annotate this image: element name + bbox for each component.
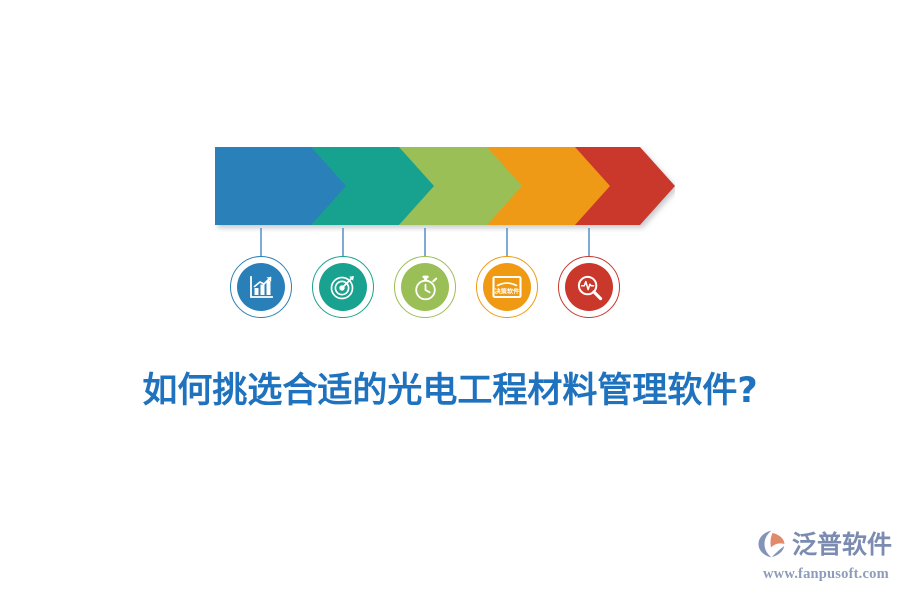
brand-name: 泛普软件 xyxy=(792,532,892,557)
fanpu-logo-mark-icon xyxy=(757,529,789,559)
brand-logo[interactable]: 泛普软件 www.fanpusoft.com xyxy=(757,529,893,585)
target-dartboard-icon xyxy=(329,273,357,301)
stopwatch-icon xyxy=(412,274,439,301)
decision-software-screen-icon: 决策软件 xyxy=(492,274,522,300)
brand-row: 泛普软件 xyxy=(757,529,892,559)
page-title: 如何挑选合适的光电工程材料管理软件? xyxy=(0,362,900,413)
badge-disc xyxy=(237,263,285,311)
process-icon-badges: 决策软件 xyxy=(215,256,675,326)
magnifier-pulse-icon xyxy=(576,274,603,301)
screen-label-text: 决策软件 xyxy=(495,288,521,296)
process-step-3-badge[interactable] xyxy=(394,256,456,318)
process-step-5-badge[interactable] xyxy=(558,256,620,318)
badge-disc xyxy=(401,263,449,311)
process-step-4-badge[interactable]: 决策软件 xyxy=(476,256,538,318)
brand-url: www.fanpusoft.com xyxy=(763,566,889,583)
badge-disc xyxy=(319,263,367,311)
process-step-2-badge[interactable] xyxy=(312,256,374,318)
badge-disc: 决策软件 xyxy=(483,263,531,311)
process-chevron-bar xyxy=(215,147,675,232)
bar-chart-growth-icon xyxy=(248,274,274,300)
badge-disc xyxy=(565,263,613,311)
poster-canvas: 决策软件 如何挑选合适的光电工程材料管理软件? xyxy=(0,0,900,600)
process-step-1-badge[interactable] xyxy=(230,256,292,318)
